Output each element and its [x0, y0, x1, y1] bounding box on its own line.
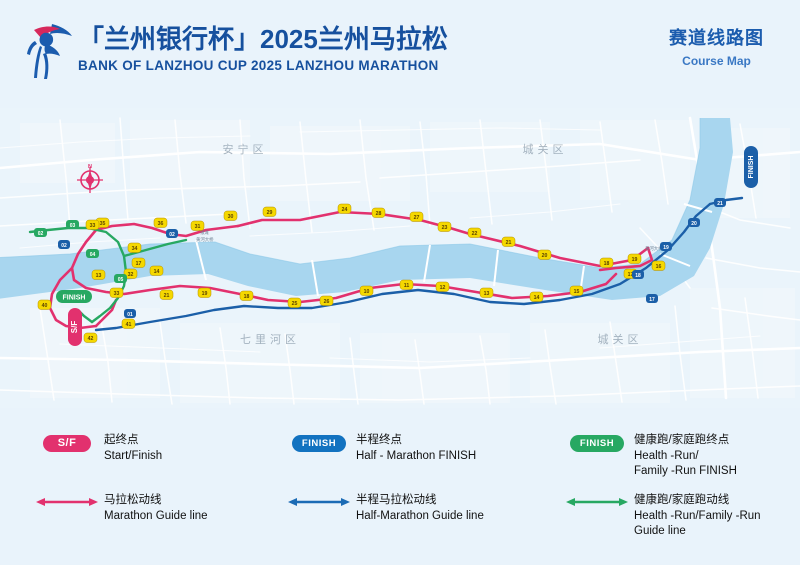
legend-half-finish-en: Half - Marathon FINISH [356, 449, 476, 465]
district-label-chengguan-south: 城关区 [598, 332, 643, 346]
lanzhou-marathon-runner-logo [22, 20, 76, 82]
legend-marathon-line-en: Marathon Guide line [104, 509, 208, 525]
legend-health-line-cn: 健康跑/家庭跑动线 [634, 493, 761, 509]
svg-text:03: 03 [70, 223, 76, 229]
svg-text:13: 13 [484, 291, 490, 297]
health-finish-badge-label: FINISH [570, 435, 624, 452]
legend-half-line-cn: 半程马拉松动线 [356, 493, 484, 509]
svg-text:40: 40 [42, 303, 48, 309]
svg-text:33: 33 [90, 223, 96, 229]
svg-text:15: 15 [574, 289, 580, 295]
svg-text:02: 02 [169, 232, 175, 238]
svg-text:28: 28 [376, 211, 382, 217]
course-map-canvas[interactable]: 安宁区 城关区 七里河区 城关区 银 [0, 108, 800, 408]
course-map-title-cn: 赛道线路图 [669, 26, 764, 50]
svg-text:12: 12 [440, 285, 446, 291]
legend-half-line-en: Half-Marathon Guide line [356, 509, 484, 525]
health-run-finish-marker[interactable]: FINISH [56, 290, 92, 303]
svg-text:24: 24 [342, 207, 348, 213]
svg-text:17: 17 [136, 261, 142, 267]
map-legend: S/F 起终点 Start/Finish 马拉松动线 Marathon Guid… [0, 415, 800, 565]
district-label-chengguan-north: 城关区 [523, 142, 568, 156]
svg-text:41: 41 [126, 322, 132, 328]
svg-text:33: 33 [114, 291, 120, 297]
svg-text:13: 13 [96, 273, 102, 279]
svg-text:黄河大桥: 黄河大桥 [196, 236, 214, 243]
legend-item-start-finish: S/F 起终点 Start/Finish [30, 433, 162, 464]
svg-text:29: 29 [267, 210, 273, 216]
health-finish-badge-icon: FINISH [560, 433, 634, 452]
legend-column-marathon: S/F 起终点 Start/Finish 马拉松动线 Marathon Guid… [30, 415, 280, 565]
svg-text:19: 19 [202, 291, 208, 297]
sf-badge-label: S/F [43, 435, 91, 452]
event-title: 「兰州银行杯」2025兰州马拉松 BANK OF LANZHOU CUP 202… [78, 24, 448, 75]
event-title-en: BANK OF LANZHOU CUP 2025 LANZHOU MARATHO… [78, 57, 448, 75]
legend-health-finish-cn: 健康跑/家庭跑终点 [634, 433, 737, 449]
svg-text:21: 21 [506, 240, 512, 246]
legend-item-half-finish: FINISH 半程终点 Half - Marathon FINISH [282, 433, 476, 464]
svg-text:17: 17 [649, 297, 655, 303]
svg-text:18: 18 [244, 294, 250, 300]
event-title-cn: 「兰州银行杯」2025兰州马拉松 [78, 24, 448, 54]
svg-text:35: 35 [100, 221, 106, 227]
svg-text:18: 18 [635, 273, 641, 279]
course-map-title: 赛道线路图 Course Map [669, 26, 764, 70]
svg-text:10: 10 [364, 289, 370, 295]
svg-text:11: 11 [404, 283, 410, 289]
legend-item-health-line: 健康跑/家庭跑动线 Health -Run/Family -Run Guide … [560, 493, 761, 540]
legend-health-finish-en: Health -Run/ [634, 449, 737, 465]
svg-text:22: 22 [472, 231, 478, 237]
map-graphic: 安宁区 城关区 七里河区 城关区 银 [0, 108, 800, 408]
legend-column-half-marathon: FINISH 半程终点 Half - Marathon FINISH 半程马拉松… [282, 415, 532, 565]
svg-text:20: 20 [542, 253, 548, 259]
svg-text:21: 21 [717, 201, 723, 207]
svg-text:21: 21 [164, 293, 170, 299]
legend-start-finish-en: Start/Finish [104, 449, 162, 465]
half-finish-badge-label: FINISH [292, 435, 346, 452]
svg-text:26: 26 [324, 299, 330, 305]
svg-text:30: 30 [228, 214, 234, 220]
svg-text:42: 42 [88, 336, 94, 342]
svg-text:34: 34 [132, 246, 138, 252]
svg-text:01: 01 [127, 312, 133, 318]
legend-item-half-line: 半程马拉松动线 Half-Marathon Guide line [282, 493, 484, 524]
svg-text:16: 16 [656, 264, 662, 270]
legend-start-finish-cn: 起终点 [104, 433, 162, 449]
start-finish-marker[interactable]: S/F [68, 308, 82, 346]
svg-text:02: 02 [61, 243, 67, 249]
half-marathon-finish-badge-label: FINISH [748, 156, 755, 179]
svg-text:31: 31 [195, 224, 201, 230]
svg-text:27: 27 [414, 215, 420, 221]
svg-text:14: 14 [534, 295, 540, 301]
svg-text:05: 05 [118, 277, 124, 283]
legend-column-health-run: FINISH 健康跑/家庭跑终点 Health -Run/ Family -Ru… [560, 415, 800, 565]
half-finish-badge-icon: FINISH [282, 433, 356, 452]
svg-text:36: 36 [158, 221, 164, 227]
sf-badge-icon: S/F [30, 433, 104, 452]
half-marathon-arrow-icon [282, 493, 356, 509]
page-header: 「兰州银行杯」2025兰州马拉松 BANK OF LANZHOU CUP 202… [0, 0, 800, 110]
svg-text:04: 04 [90, 252, 96, 258]
course-map-title-en: Course Map [669, 52, 764, 70]
legend-marathon-line-cn: 马拉松动线 [104, 493, 208, 509]
district-label-qilihe: 七里河区 [240, 333, 300, 346]
legend-item-health-finish: FINISH 健康跑/家庭跑终点 Health -Run/ Family -Ru… [560, 433, 737, 480]
district-label-anning: 安宁区 [223, 142, 268, 156]
svg-text:32: 32 [128, 272, 134, 278]
svg-text:20: 20 [691, 221, 697, 227]
half-marathon-finish-marker[interactable]: FINISH [744, 146, 758, 188]
legend-half-finish-cn: 半程终点 [356, 433, 476, 449]
start-finish-badge-label: S/F [70, 321, 79, 334]
health-run-arrow-icon [560, 493, 634, 509]
legend-item-marathon-line: 马拉松动线 Marathon Guide line [30, 493, 208, 524]
svg-text:25: 25 [292, 301, 298, 307]
svg-text:23: 23 [442, 225, 448, 231]
svg-text:18: 18 [604, 261, 610, 267]
legend-health-finish-en2: Family -Run FINISH [634, 464, 737, 480]
svg-text:02: 02 [38, 231, 44, 237]
svg-text:19: 19 [663, 245, 669, 251]
svg-text:14: 14 [154, 269, 160, 275]
health-run-finish-badge-label: FINISH [63, 294, 86, 301]
marathon-arrow-icon [30, 493, 104, 509]
legend-health-line-en: Health -Run/Family -Run [634, 509, 761, 525]
legend-health-line-en2: Guide line [634, 524, 761, 540]
